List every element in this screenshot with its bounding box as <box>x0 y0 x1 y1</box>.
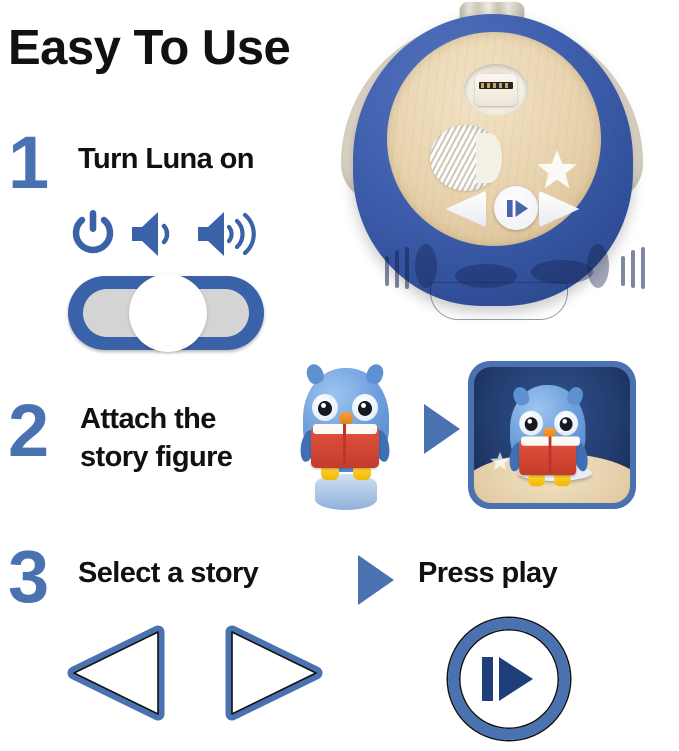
page-title: Easy To Use <box>8 24 290 73</box>
step-1-icon-row <box>70 210 270 262</box>
step-1-title: Turn Luna on <box>78 144 254 175</box>
step-1-number: 1 <box>8 126 47 200</box>
owl-on-device-photo <box>468 361 636 509</box>
volume-dial[interactable] <box>430 125 502 191</box>
owl-eye-right <box>554 411 578 436</box>
step-2-title-line2: story figure <box>80 442 232 473</box>
device-previous-button[interactable] <box>444 190 486 228</box>
step-3-arrow-right-icon <box>358 555 394 605</box>
owl-foot-left <box>321 466 339 480</box>
owl-eye-right <box>352 394 378 421</box>
owl-eye-left <box>312 394 338 421</box>
play-pause-button[interactable] <box>448 618 570 740</box>
owl-story-figure <box>297 362 395 510</box>
owl-foot-right <box>554 473 571 486</box>
battery-door <box>430 282 568 320</box>
play-pause-icon <box>482 654 538 704</box>
device-wood-face <box>387 32 601 246</box>
step-2-arrow-right-icon <box>424 404 460 454</box>
previous-triangle-button[interactable] <box>62 620 172 726</box>
volume-low-icon <box>130 210 182 263</box>
owl-eye-left <box>519 411 543 436</box>
luna-story-player-device <box>333 2 653 332</box>
connector-pins <box>479 82 513 89</box>
star-button[interactable] <box>537 150 577 190</box>
step-2-title-line1: Attach the <box>80 404 216 435</box>
owl-book <box>311 428 379 468</box>
owl-foot-left <box>528 473 545 486</box>
step-3-number: 3 <box>8 540 47 614</box>
device-body <box>353 14 633 306</box>
device-next-button[interactable] <box>539 190 581 228</box>
connector-block <box>475 74 517 106</box>
step-3-title-2: Press play <box>418 558 557 589</box>
owl-foot-right <box>353 466 371 480</box>
next-triangle-button[interactable] <box>218 620 328 726</box>
power-volume-toggle-switch[interactable] <box>68 276 264 350</box>
power-icon <box>70 210 116 263</box>
volume-high-icon <box>196 210 262 263</box>
inset-owl-figure <box>510 385 585 477</box>
step-2-number: 2 <box>8 394 47 468</box>
toggle-knob[interactable] <box>129 274 207 352</box>
device-play-pause-button[interactable] <box>494 186 538 230</box>
step-3-title: Select a story <box>78 558 258 589</box>
owl-book <box>519 440 576 475</box>
easy-to-use-instructions-page: Easy To Use 1 Turn Luna on <box>0 0 679 751</box>
